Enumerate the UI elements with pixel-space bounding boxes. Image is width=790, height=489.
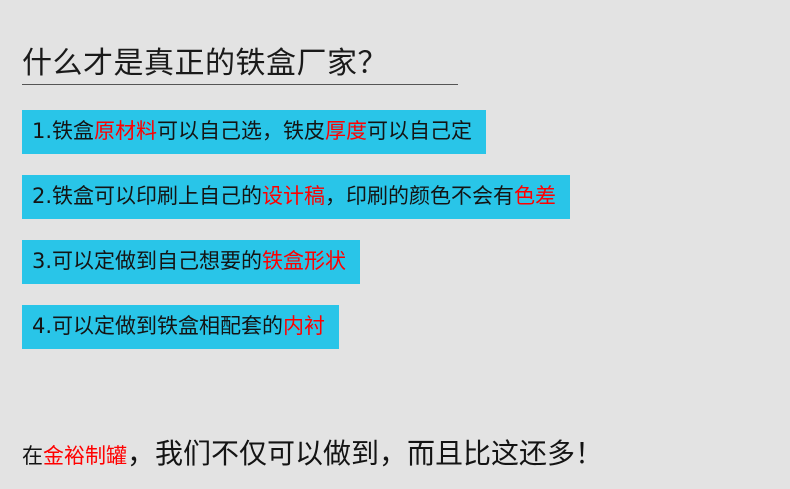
list-item-text: 铁盒 <box>52 119 94 143</box>
list-item: 4.可以定做到铁盒相配套的内衬 <box>22 305 339 349</box>
feature-list: 1.铁盒原材料可以自己选，铁皮厚度可以自己定 2.铁盒可以印刷上自己的设计稿，印… <box>22 110 768 370</box>
list-item-highlight: 铁盒形状 <box>262 249 346 273</box>
list-item-index: 2. <box>32 184 52 208</box>
brand-name: 金裕制罐 <box>43 444 127 468</box>
list-item-text: 可以定做到铁盒相配套的 <box>52 314 283 338</box>
list-item-text: 可以定做到自己想要的 <box>52 249 262 273</box>
list-item-text: ，印刷的颜色不会有 <box>325 184 514 208</box>
page-title: 什么才是真正的铁盒厂家？ <box>22 44 388 84</box>
list-item: 2.铁盒可以印刷上自己的设计稿，印刷的颜色不会有色差 <box>22 175 570 219</box>
document-page: 什么才是真正的铁盒厂家？ 1.铁盒原材料可以自己选，铁皮厚度可以自己定 2.铁盒… <box>0 0 790 489</box>
list-item-highlight: 原材料 <box>94 119 157 143</box>
footer-suffix: ，我们不仅可以做到，而且比这还多！ <box>127 437 603 470</box>
list-item-text: 可以自己定 <box>367 119 472 143</box>
list-item-highlight: 厚度 <box>325 119 367 143</box>
list-item-index: 1. <box>32 119 52 143</box>
list-item: 3.可以定做到自己想要的铁盒形状 <box>22 240 360 284</box>
list-item: 1.铁盒原材料可以自己选，铁皮厚度可以自己定 <box>22 110 486 154</box>
list-item-row: 2.铁盒可以印刷上自己的设计稿，印刷的颜色不会有色差 <box>22 175 768 240</box>
footer-prefix: 在 <box>22 444 43 468</box>
list-item-highlight: 色差 <box>514 184 556 208</box>
list-item-text: 铁盒可以印刷上自己的 <box>52 184 262 208</box>
list-item-highlight: 设计稿 <box>262 184 325 208</box>
list-item-index: 4. <box>32 314 52 338</box>
list-item-text: 可以自己选，铁皮 <box>157 119 325 143</box>
title-divider <box>22 84 458 85</box>
list-item-highlight: 内衬 <box>283 314 325 338</box>
footer-line: 在金裕制罐，我们不仅可以做到，而且比这还多！ <box>22 432 603 472</box>
list-item-row: 4.可以定做到铁盒相配套的内衬 <box>22 305 768 370</box>
list-item-row: 3.可以定做到自己想要的铁盒形状 <box>22 240 768 305</box>
list-item-row: 1.铁盒原材料可以自己选，铁皮厚度可以自己定 <box>22 110 768 175</box>
list-item-index: 3. <box>32 249 52 273</box>
